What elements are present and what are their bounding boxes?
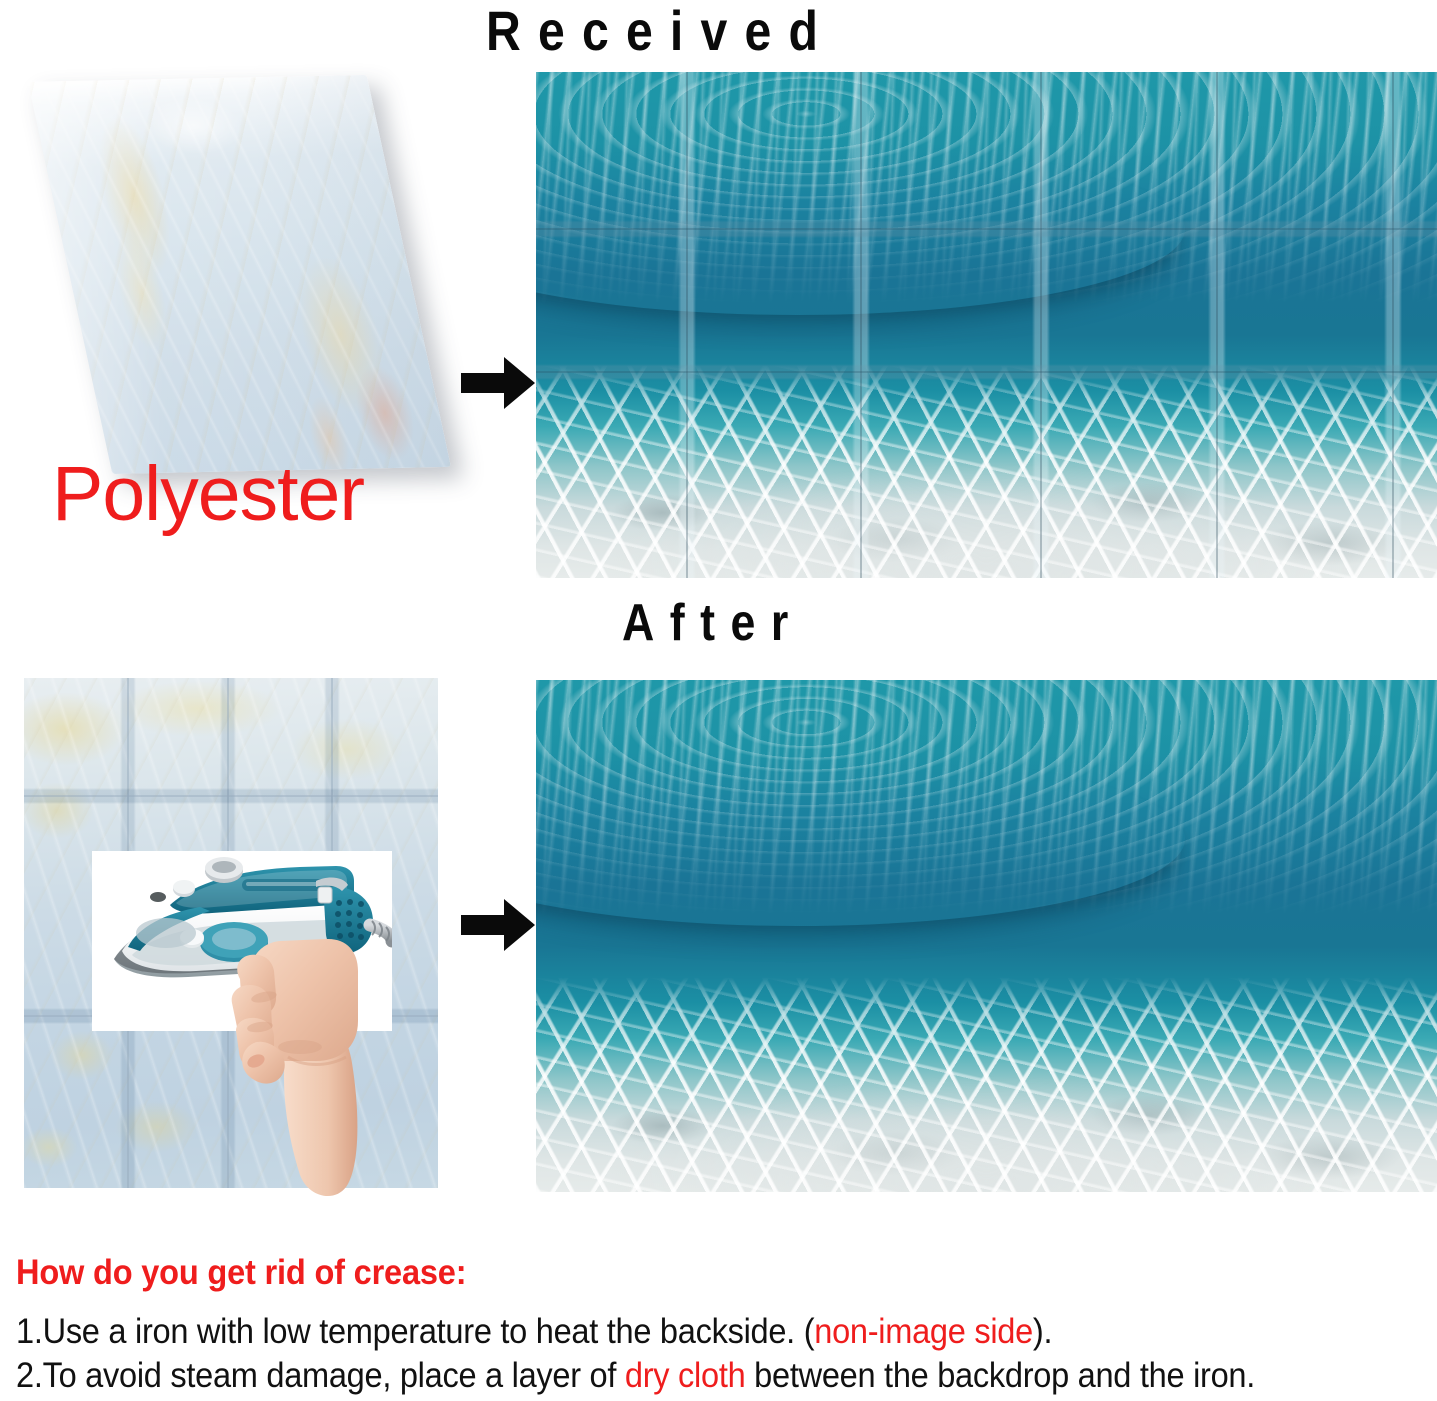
swatch-sheen [28,75,451,474]
water-ripples [536,680,1437,916]
care-step-2-text-a: 2.To avoid steam damage, place a layer o… [16,1356,625,1395]
care-step-1-highlight: non-image side [814,1312,1033,1351]
water-ripples [536,72,1437,305]
arrow-right-icon [459,895,537,955]
received-heading: Received [486,0,835,63]
care-instructions: How do you get rid of crease: 1.Use a ir… [16,1252,1428,1399]
sand-caustics [536,365,1437,578]
care-instructions-title: How do you get rid of crease: [16,1252,1329,1294]
care-instruction-step-1: 1.Use a iron with low temperature to hea… [16,1310,1329,1354]
steam-iron-photo [92,851,392,1031]
polyester-material-label: Polyester [52,456,364,533]
care-step-2-text-b: between the backdrop and the iron. [745,1356,1255,1395]
arrow-right-icon [459,353,537,413]
polyester-swatch-photo [28,75,451,474]
care-step-1-text-a: 1.Use a iron with low temperature to hea… [16,1312,814,1351]
sand-caustics [536,977,1437,1192]
after-backdrop-photo [536,680,1437,1192]
care-step-1-text-b: ). [1033,1312,1052,1351]
received-backdrop-photo [536,72,1437,578]
care-step-2-highlight: dry cloth [625,1356,746,1395]
care-instruction-step-2: 2.To avoid steam damage, place a layer o… [16,1354,1329,1398]
after-heading: After [622,593,804,653]
